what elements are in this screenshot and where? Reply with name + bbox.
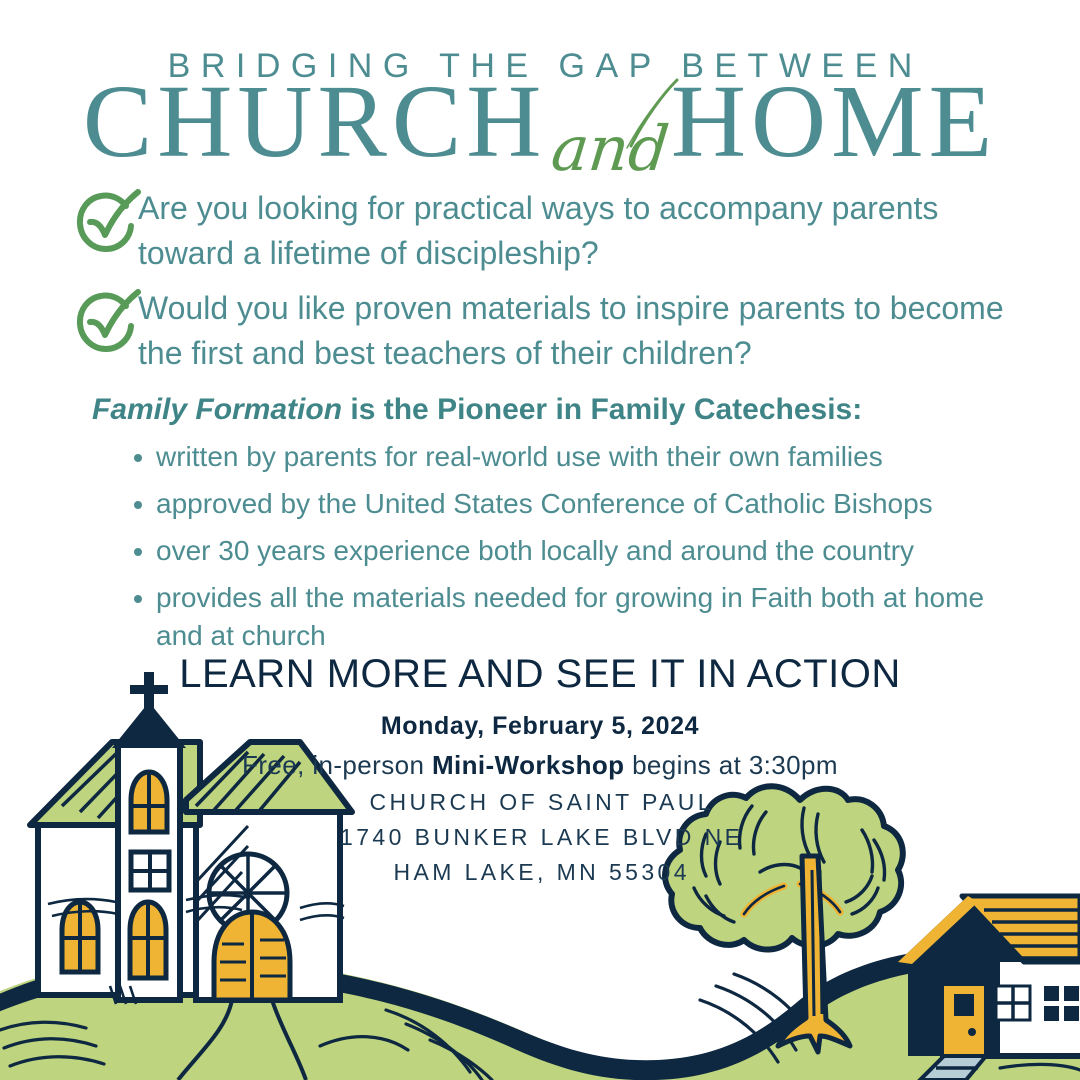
ground-hills-icon <box>0 947 1080 1080</box>
list-item: over 30 years experience both locally an… <box>134 532 992 570</box>
check-circle-icon <box>74 288 144 358</box>
address-line-venue: CHURCH OF SAINT PAUL <box>0 785 1080 820</box>
pitch-bullet-list: written by parents for real-world use wi… <box>92 438 992 655</box>
house-icon <box>898 896 1080 1080</box>
event-detail-prefix: Free, in-person <box>242 750 432 780</box>
address-line-street: 1740 BUNKER LAKE BLVD NE <box>0 820 1080 855</box>
event-detail-suffix: begins at 3:30pm <box>624 750 838 780</box>
pitch-heading-rest: is the Pioneer in Family Catechesis: <box>342 393 862 426</box>
questions-list: Are you looking for practical ways to ac… <box>74 186 1034 386</box>
event-date: Monday, February 5, 2024 <box>0 706 1080 746</box>
pitch-block: Family Formation is the Pioneer in Famil… <box>92 390 992 664</box>
question-item: Are you looking for practical ways to ac… <box>74 186 1034 276</box>
question-item: Would you like proven materials to inspi… <box>74 286 1034 376</box>
question-text: Would you like proven materials to inspi… <box>138 286 1034 376</box>
check-circle-icon <box>74 188 144 258</box>
event-detail: Free, in-person Mini-Workshop begins at … <box>0 746 1080 784</box>
event-headline: LEARN MORE AND SEE IT IN ACTION <box>0 648 1080 700</box>
flyer-canvas: BRIDGING THE GAP BETWEEN CHURCHandHOME A… <box>0 0 1080 1080</box>
title-word-home: HOME <box>671 64 997 179</box>
list-item: approved by the United States Conference… <box>134 485 992 523</box>
event-block: LEARN MORE AND SEE IT IN ACTION Monday, … <box>0 648 1080 784</box>
question-text: Are you looking for practical ways to ac… <box>138 186 1034 276</box>
pitch-heading-emphasis: Family Formation <box>92 393 342 426</box>
address-block: CHURCH OF SAINT PAUL 1740 BUNKER LAKE BL… <box>0 785 1080 890</box>
address-line-city: HAM LAKE, MN 55304 <box>0 855 1080 890</box>
page-title: CHURCHandHOME <box>0 72 1080 202</box>
list-item: provides all the materials needed for gr… <box>134 579 992 655</box>
title-connector-and: and <box>547 99 674 199</box>
pitch-heading: Family Formation is the Pioneer in Famil… <box>92 390 992 430</box>
event-detail-emphasis: Mini-Workshop <box>432 750 624 780</box>
title-word-church: CHURCH <box>83 64 546 179</box>
list-item: written by parents for real-world use wi… <box>134 438 992 476</box>
